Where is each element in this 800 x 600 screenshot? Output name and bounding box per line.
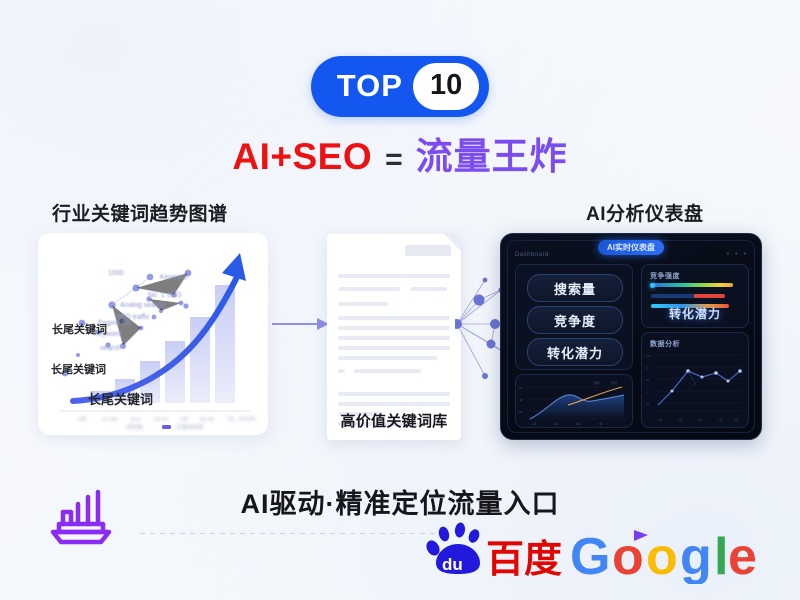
svg-text:5月: 5月: [576, 422, 581, 426]
keyword-library-document-card: 高价值关键词库: [327, 234, 461, 440]
gauge-highlight-label: 转化潜力: [642, 305, 748, 322]
title-equals-sign: =: [385, 143, 403, 177]
chart-legend-text: 关键词热度: [176, 423, 204, 431]
infographic-stage: TOP 10 AI+SEO = 流量王炸 行业关键词趋势图谱 AI分析仪表盘: [0, 0, 800, 600]
document-text-lines: [338, 274, 450, 432]
gauge-bar-1: [651, 283, 733, 287]
flow-arrow-chart-to-doc: [272, 316, 330, 332]
metric-pill-search-volume[interactable]: 搜索量: [527, 274, 623, 302]
dashboard-corner-label: Dashboard: [515, 252, 549, 258]
svg-text:g: g: [680, 528, 712, 584]
svg-text:9月: 9月: [734, 418, 739, 422]
svg-text:1月: 1月: [658, 418, 663, 422]
dashboard-line-chart-panel: 数据分析 1008060 4020 1月3月 5: [641, 332, 749, 428]
main-title: AI+SEO = 流量王炸: [0, 126, 800, 180]
svg-text:7月: 7月: [598, 422, 603, 426]
title-part-traffic: 流量王炸: [416, 126, 568, 180]
svg-text:3月: 3月: [678, 418, 683, 422]
chart-keyword-label-3: 长尾关键词: [88, 392, 153, 407]
keyword-trend-chart-card: KeywordNo. 1 SEO Analog searchSEO traffi…: [38, 233, 268, 435]
dashboard-area-chart: 趋势预测 604020 1月3月 5月7月: [516, 375, 632, 427]
caption-ai-dashboard: AI分析仪表盘: [586, 199, 704, 226]
svg-text:50.06: 50.06: [200, 417, 214, 423]
svg-text:关键词热度: 关键词热度: [176, 423, 204, 431]
dashboard-menu-dots-icon[interactable]: • • •: [727, 251, 748, 258]
dashboard-gauge-panel: 竞争强度 转化潜力: [641, 264, 749, 328]
growth-chart-icon: [45, 484, 125, 546]
svg-text:7月: 7月: [226, 416, 235, 423]
badge-number: 10: [413, 63, 479, 110]
baidu-du-text: du: [442, 555, 463, 574]
metric-pill-competition[interactable]: 竞争度: [527, 306, 623, 334]
svg-text:60: 60: [646, 378, 650, 382]
svg-text:l: l: [714, 528, 728, 584]
dashboard-metrics-panel: 搜索量 竞争度 转化潜力: [515, 264, 633, 370]
svg-text:Keyword: Keyword: [160, 274, 187, 281]
svg-text:7月: 7月: [718, 418, 723, 422]
svg-text:20: 20: [646, 402, 650, 406]
svg-text:G: G: [570, 528, 610, 584]
top-rank-badge: TOP 10: [311, 56, 489, 117]
chart-keyword-label-1: 长尾关键词: [52, 322, 107, 336]
svg-text:2025年: 2025年: [238, 415, 256, 423]
chart-scatter-links: [112, 273, 188, 346]
chart-keyword-label-2: 长尾关键词: [51, 362, 106, 376]
svg-text:20.6: 20.6: [130, 417, 141, 423]
svg-text:40: 40: [646, 390, 650, 394]
caption-keyword-trend: 行业关键词趋势图谱: [52, 199, 228, 226]
trend-chart-svg: KeywordNo. 1 SEO Analog searchSEO traffi…: [38, 233, 268, 435]
gauge-bar-2: [651, 294, 725, 298]
svg-text:20: 20: [519, 410, 523, 414]
search-engine-logos: du 百度 G o o g l e: [420, 522, 760, 584]
svg-text:趋势: 趋势: [594, 380, 600, 385]
baidu-wordmark: 百度: [486, 539, 562, 581]
svg-text:4月: 4月: [78, 416, 87, 423]
google-wordmark: G o o g l e: [570, 528, 757, 584]
svg-text:预测: 预测: [611, 380, 617, 385]
svg-text:100: 100: [646, 354, 651, 358]
svg-text:1月: 1月: [532, 422, 537, 426]
svg-text:40: 40: [519, 398, 523, 402]
line-panel-title: 数据分析: [650, 339, 680, 349]
svg-text:3月: 3月: [554, 422, 559, 426]
gauge-bar-1-handle[interactable]: [650, 283, 655, 288]
document-header-block: [405, 245, 451, 256]
dashboard-title-badge: AI实时仪表盘: [598, 240, 664, 255]
svg-text:No. 1 SEO: No. 1 SEO: [148, 292, 182, 299]
badge-top-label: TOP: [337, 70, 403, 103]
top-badge-wrapper: TOP 10: [0, 56, 800, 117]
dashboard-area-chart-panel: 趋势预测 604020 1月3月 5月7月: [515, 374, 633, 428]
tagline-divider: [140, 533, 440, 534]
gauge-panel-title: 竞争强度: [650, 271, 680, 281]
svg-text:18.44: 18.44: [154, 417, 168, 423]
svg-text:search: search: [100, 345, 121, 352]
title-part-ai-seo: AI+SEO: [232, 136, 372, 178]
svg-text:e: e: [728, 528, 757, 584]
svg-text:60: 60: [519, 386, 523, 390]
svg-text:Analog search: Analog search: [120, 302, 165, 309]
svg-text:80: 80: [646, 366, 650, 370]
chart-legend-swatch: [162, 425, 171, 429]
svg-text:1000: 1000: [108, 270, 124, 277]
svg-text:10.4%: 10.4%: [102, 417, 118, 423]
svg-text:时间轴: 时间轴: [126, 423, 143, 431]
svg-text:5月: 5月: [180, 416, 189, 423]
document-card-label: 高价值关键词库: [327, 410, 461, 431]
ai-dashboard-panel: AI实时仪表盘 Dashboard • • • 搜索量 竞争度 转化潜力: [500, 233, 762, 440]
metric-pill-conversion[interactable]: 转化潜力: [527, 338, 623, 366]
svg-text:o: o: [646, 528, 678, 584]
svg-text:5月: 5月: [698, 418, 703, 422]
